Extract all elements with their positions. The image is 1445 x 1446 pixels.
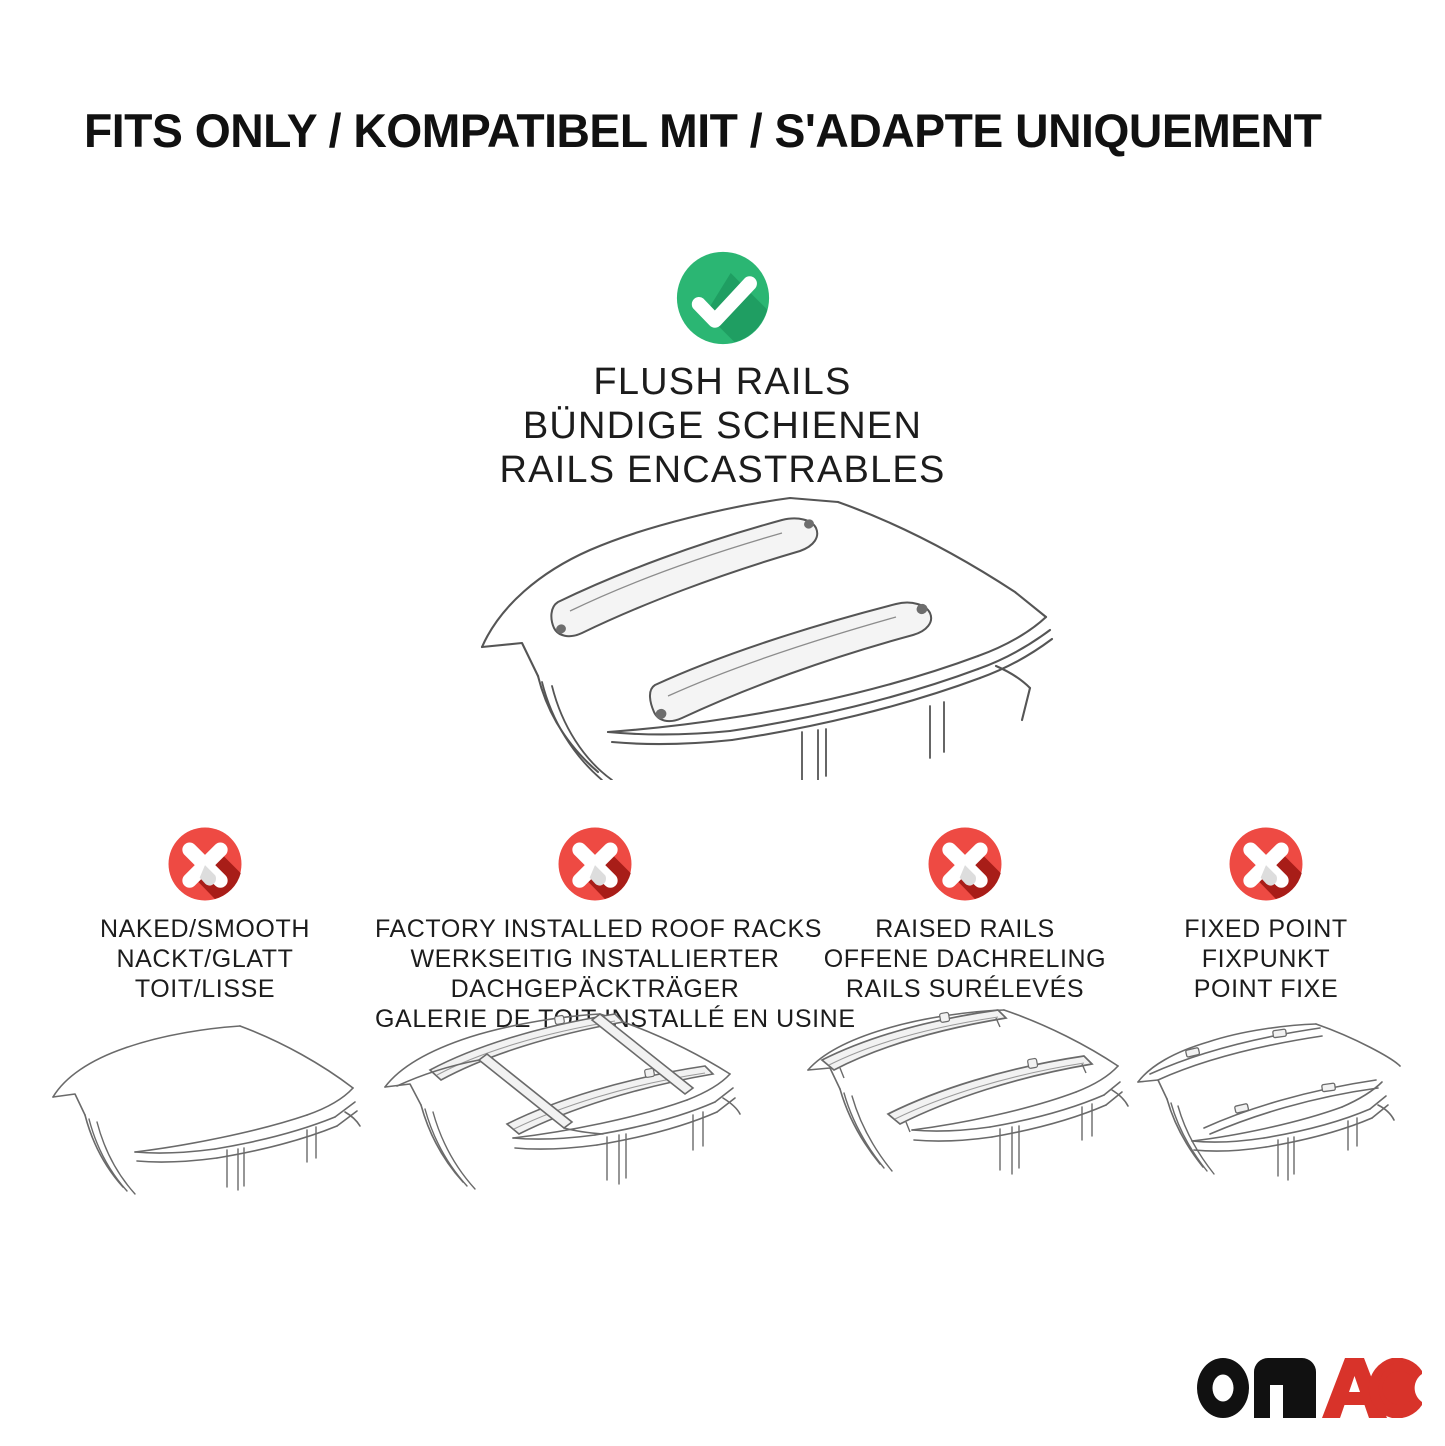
flush-rail-far	[551, 518, 817, 636]
compatible-section: FLUSH RAILS BÜNDIGE SCHIENEN RAILS ENCAS…	[0, 250, 1445, 492]
x-circle-icon	[167, 826, 243, 902]
logo-letter-m	[1254, 1358, 1316, 1418]
car-roof-with-flush-rails-illustration	[430, 480, 1090, 780]
car-roof-raised-rails-illustration	[800, 992, 1130, 1242]
label-en: RAISED RAILS	[800, 914, 1130, 944]
compatible-icon-wrap	[0, 250, 1445, 346]
incompatible-labels-4: FIXED POINT FIXPUNKT POINT FIXE	[1130, 914, 1402, 1004]
x-circle-icon	[1228, 826, 1304, 902]
incompatible-sections: NAKED/SMOOTH NACKT/GLATT TOIT/LISSE	[0, 826, 1445, 1446]
x-icon-wrap-2	[375, 826, 815, 902]
label-fr: TOIT/LISSE	[35, 974, 375, 1004]
label-de: FIXPUNKT	[1130, 944, 1402, 974]
incompatible-labels-1: NAKED/SMOOTH NACKT/GLATT TOIT/LISSE	[35, 914, 375, 1004]
check-circle-icon	[675, 250, 771, 346]
compatible-label-en: FLUSH RAILS	[0, 360, 1445, 404]
omac-logo	[1196, 1358, 1422, 1418]
logo-letter-o	[1197, 1358, 1249, 1418]
incompatible-labels-3: RAISED RAILS OFFENE DACHRELING RAILS SUR…	[800, 914, 1130, 1004]
x-circle-icon	[557, 826, 633, 902]
incompatible-item-raised-rails: RAISED RAILS OFFENE DACHRELING RAILS SUR…	[800, 826, 1130, 1004]
raised-rail-far	[822, 1010, 1006, 1078]
x-icon-wrap-4	[1130, 826, 1402, 902]
label-fr: POINT FIXE	[1130, 974, 1402, 1004]
car-roof-naked-smooth-illustration	[35, 1022, 375, 1242]
incompatible-item-factory-roof-racks: FACTORY INSTALLED ROOF RACKS WERKSEITIG …	[375, 826, 815, 1034]
compatible-label-de: BÜNDIGE SCHIENEN	[0, 404, 1445, 448]
compatible-labels: FLUSH RAILS BÜNDIGE SCHIENEN RAILS ENCAS…	[0, 360, 1445, 492]
label-en: FIXED POINT	[1130, 914, 1402, 944]
label-de: OFFENE DACHRELING	[800, 944, 1130, 974]
x-circle-icon	[927, 826, 1003, 902]
x-icon-wrap-3	[800, 826, 1130, 902]
car-roof-fixed-point-illustration	[1130, 1022, 1402, 1242]
flush-rail-near	[650, 602, 931, 721]
incompatible-item-naked-smooth: NAKED/SMOOTH NACKT/GLATT TOIT/LISSE	[35, 826, 375, 1004]
incompatible-item-fixed-point: FIXED POINT FIXPUNKT POINT FIXE	[1130, 826, 1402, 1004]
label-en: NAKED/SMOOTH	[35, 914, 375, 944]
page-title: FITS ONLY / KOMPATIBEL MIT / S'ADAPTE UN…	[84, 103, 1355, 159]
label-de-1: WERKSEITIG INSTALLIERTER	[375, 944, 815, 974]
label-en: FACTORY INSTALLED ROOF RACKS	[375, 914, 815, 944]
x-icon-wrap-1	[35, 826, 375, 902]
label-de: NACKT/GLATT	[35, 944, 375, 974]
car-roof-factory-installed-roof-racks-illustration	[375, 992, 815, 1242]
